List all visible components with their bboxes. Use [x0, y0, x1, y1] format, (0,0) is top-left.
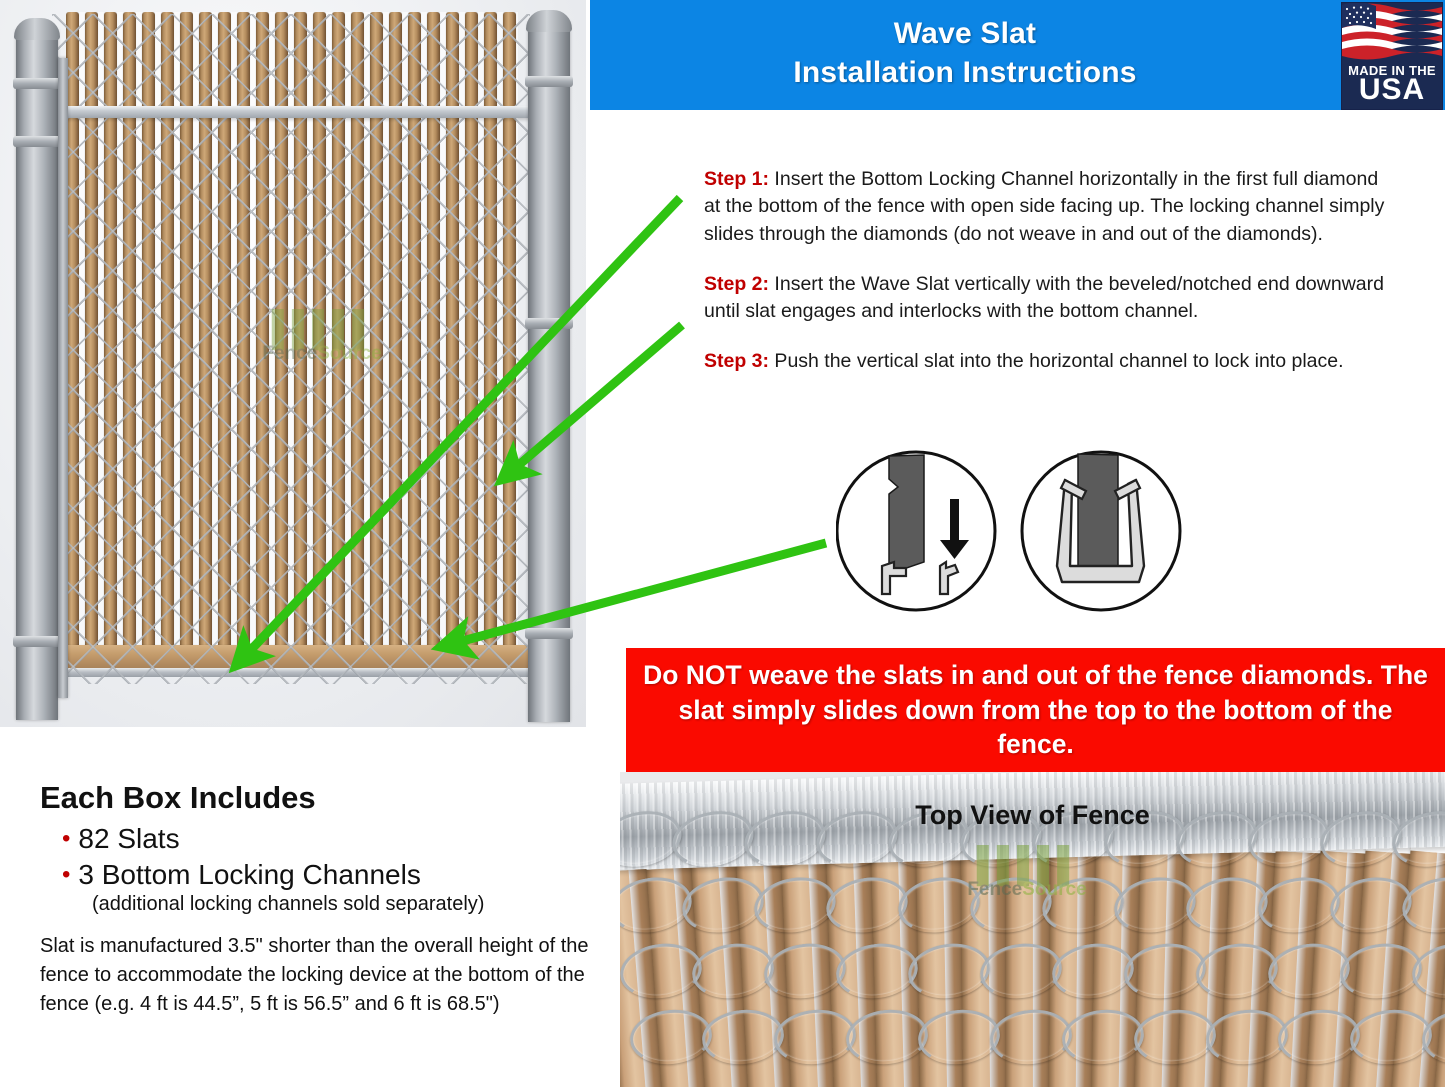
post-band-left-mid — [13, 136, 61, 147]
fence-terminal-post-left — [58, 58, 68, 698]
badge-line-2: USA — [1342, 75, 1442, 105]
post-band-left-top — [13, 78, 61, 89]
box-item-1: 82 Slats — [78, 822, 179, 856]
slat-measurement-note: Slat is manufactured 3.5" shorter than t… — [40, 932, 600, 1019]
slat-locking-detail — [836, 444, 1186, 619]
warning-text: Do NOT weave the slats in and out of the… — [626, 658, 1445, 763]
title-line-1: Wave Slat — [590, 14, 1340, 53]
box-item-2: 3 Bottom Locking Channels — [78, 858, 420, 892]
fence-top-rail — [40, 106, 540, 118]
title-line-2: Installation Instructions — [590, 53, 1340, 92]
top-view-label: Top View of Fence — [620, 800, 1445, 831]
post-band-right-top — [525, 76, 573, 87]
page-title: Wave Slat Installation Instructions — [590, 14, 1340, 92]
step-2: Step 2: Insert the Wave Slat vertically … — [704, 271, 1394, 326]
us-flag-icon — [1342, 3, 1442, 65]
bullet-dot-icon: • — [62, 827, 70, 851]
made-in-usa-badge: MADE IN THE USA — [1341, 2, 1443, 110]
top-view-photo: Top View of Fence ▌▌▌▌▌ FenceSource — [620, 772, 1445, 1087]
post-cap-left — [14, 18, 60, 40]
post-band-right-mid — [525, 318, 573, 329]
step-2-text: Insert the Wave Slat vertically with the… — [704, 273, 1384, 323]
step-3-label: Step 3: — [704, 350, 769, 372]
header-banner: Wave Slat Installation Instructions — [590, 0, 1445, 110]
step-1-text: Insert the Bottom Locking Channel horizo… — [704, 168, 1384, 245]
fence-photo: ▌▌▌▌▌ FenceSource — [0, 0, 586, 727]
step-3-text: Push the vertical slat into the horizont… — [769, 350, 1344, 372]
fence-post-left — [16, 30, 58, 720]
warning-banner: Do NOT weave the slats in and out of the… — [626, 648, 1445, 772]
slat-locked-in-channel — [1022, 452, 1180, 610]
box-includes-title: Each Box Includes — [40, 780, 600, 816]
box-includes-note: (additional locking channels sold separa… — [92, 893, 600, 916]
list-item: • 82 Slats — [62, 822, 600, 856]
list-item: • 3 Bottom Locking Channels — [62, 858, 600, 892]
post-cap-right — [526, 10, 572, 32]
post-band-right-bottom — [525, 628, 573, 639]
step-1: Step 1: Insert the Bottom Locking Channe… — [704, 166, 1394, 249]
installation-steps: Step 1: Insert the Bottom Locking Channe… — [704, 146, 1394, 398]
step-3: Step 3: Push the vertical slat into the … — [704, 348, 1394, 376]
step-1-label: Step 1: — [704, 168, 769, 190]
post-band-left-bottom — [13, 636, 61, 647]
bullet-dot-icon: • — [62, 863, 70, 887]
fence-post-right — [528, 22, 570, 722]
box-includes-section: Each Box Includes • 82 Slats • 3 Bottom … — [40, 780, 600, 916]
step-2-label: Step 2: — [704, 273, 769, 295]
slat-inserting-into-channel — [837, 452, 995, 610]
